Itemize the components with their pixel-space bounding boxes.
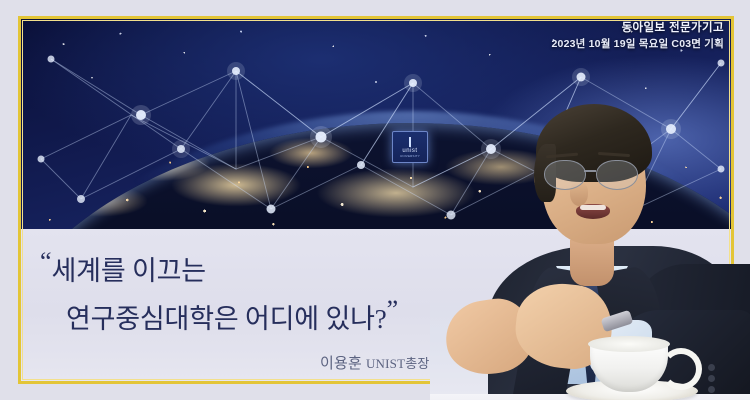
quote-attribution: 이용훈 UNIST총장 [320, 352, 430, 373]
cup-handle [660, 348, 702, 390]
dateline: 2023년 10월 19일 목요일 C03면 기획 [551, 37, 724, 53]
unist-badge-subtext: UNIVERSITY [400, 154, 420, 158]
publication-header: 동아일보 전문가기고 2023년 10월 19일 목요일 C03면 기획 [551, 20, 724, 52]
editorial-graphic: unist UNIVERSITY 동아일보 전문가기고 2023년 10월 19… [0, 0, 750, 400]
lens-right [596, 160, 638, 190]
cup-rim [588, 336, 670, 352]
lens-left [544, 160, 586, 190]
quote-line-2: 연구중심대학은 어디에 있나?” [40, 291, 398, 339]
quote-line-1: “세계를 이끄는 [40, 243, 398, 291]
attribution-title: UNIST총장 [366, 356, 430, 371]
sleeve-buttons [708, 364, 736, 394]
unist-logo-badge: unist UNIVERSITY [392, 131, 428, 163]
eyeglasses-icon [542, 160, 650, 190]
masthead: 동아일보 전문가기고 [551, 20, 724, 37]
quote-text-line-1: 세계를 이끄는 [52, 256, 206, 286]
quote-close-mark: ” [387, 295, 399, 324]
attribution-name: 이용훈 [320, 356, 362, 372]
neck [570, 240, 614, 286]
quote-open-mark: “ [40, 247, 52, 276]
quote-text-line-2: 연구중심대학은 어디에 있나? [66, 304, 387, 334]
teeth [580, 205, 606, 210]
portrait-photo [430, 78, 750, 400]
pull-quote: “세계를 이끄는 연구중심대학은 어디에 있나?” [40, 243, 398, 339]
glasses-bridge [584, 170, 596, 172]
unist-mark-icon [409, 137, 411, 147]
